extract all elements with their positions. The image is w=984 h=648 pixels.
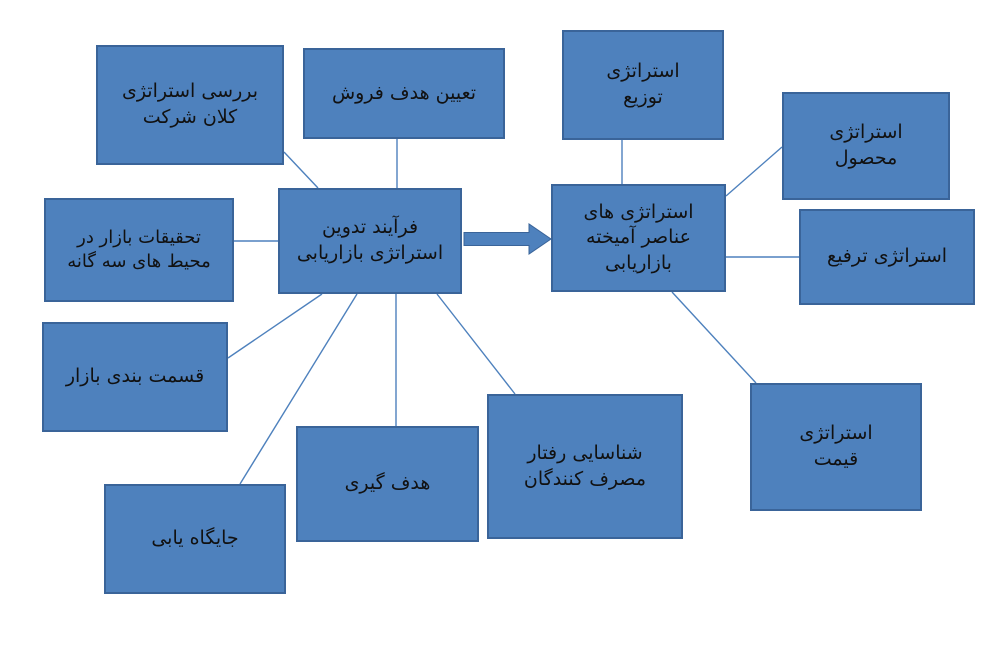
node-marketing-strategy-process[interactable]: فرآیند تدوین استراتژی بازاریابی bbox=[278, 188, 462, 294]
node-positioning[interactable]: جایگاه یابی bbox=[104, 484, 286, 594]
node-layer: بررسی استراتژی کلان شرکتتعیین هدف فروشاس… bbox=[0, 0, 984, 648]
node-consumer-behavior[interactable]: شناسایی رفتار مصرف کنندگان bbox=[487, 394, 683, 539]
node-label-market-research: تحقیقات بازار در محیط های سه گانه bbox=[52, 226, 226, 275]
node-corporate-strategy-review[interactable]: بررسی استراتژی کلان شرکت bbox=[96, 45, 284, 165]
node-price-strategy[interactable]: استراتژی قیمت bbox=[750, 383, 922, 511]
node-sales-target-setting[interactable]: تعیین هدف فروش bbox=[303, 48, 505, 139]
node-label-distribution-strategy: استراتژی توزیع bbox=[570, 59, 716, 110]
node-product-strategy[interactable]: استراتژی محصول bbox=[782, 92, 950, 200]
node-label-marketing-mix-strategies: استراتژی های عناصر آمیخته بازاریابی bbox=[559, 200, 718, 277]
node-label-market-segmentation: قسمت بندی بازار bbox=[50, 364, 220, 390]
node-targeting[interactable]: هدف گیری bbox=[296, 426, 479, 542]
node-label-product-strategy: استراتژی محصول bbox=[790, 120, 942, 171]
node-label-marketing-strategy-process: فرآیند تدوین استراتژی بازاریابی bbox=[286, 215, 454, 266]
node-label-corporate-strategy-review: بررسی استراتژی کلان شرکت bbox=[104, 79, 276, 130]
node-marketing-mix-strategies[interactable]: استراتژی های عناصر آمیخته بازاریابی bbox=[551, 184, 726, 292]
node-market-segmentation[interactable]: قسمت بندی بازار bbox=[42, 322, 228, 432]
node-distribution-strategy[interactable]: استراتژی توزیع bbox=[562, 30, 724, 140]
diagram-canvas: بررسی استراتژی کلان شرکتتعیین هدف فروشاس… bbox=[0, 0, 984, 648]
node-label-targeting: هدف گیری bbox=[304, 471, 471, 497]
node-label-consumer-behavior: شناسایی رفتار مصرف کنندگان bbox=[495, 441, 675, 492]
node-label-positioning: جایگاه یابی bbox=[112, 526, 278, 552]
node-label-price-strategy: استراتژی قیمت bbox=[758, 421, 914, 472]
node-label-promotion-strategy: استراتژی ترفیع bbox=[807, 244, 967, 270]
node-promotion-strategy[interactable]: استراتژی ترفیع bbox=[799, 209, 975, 305]
node-market-research[interactable]: تحقیقات بازار در محیط های سه گانه bbox=[44, 198, 234, 302]
node-label-sales-target-setting: تعیین هدف فروش bbox=[311, 81, 497, 107]
